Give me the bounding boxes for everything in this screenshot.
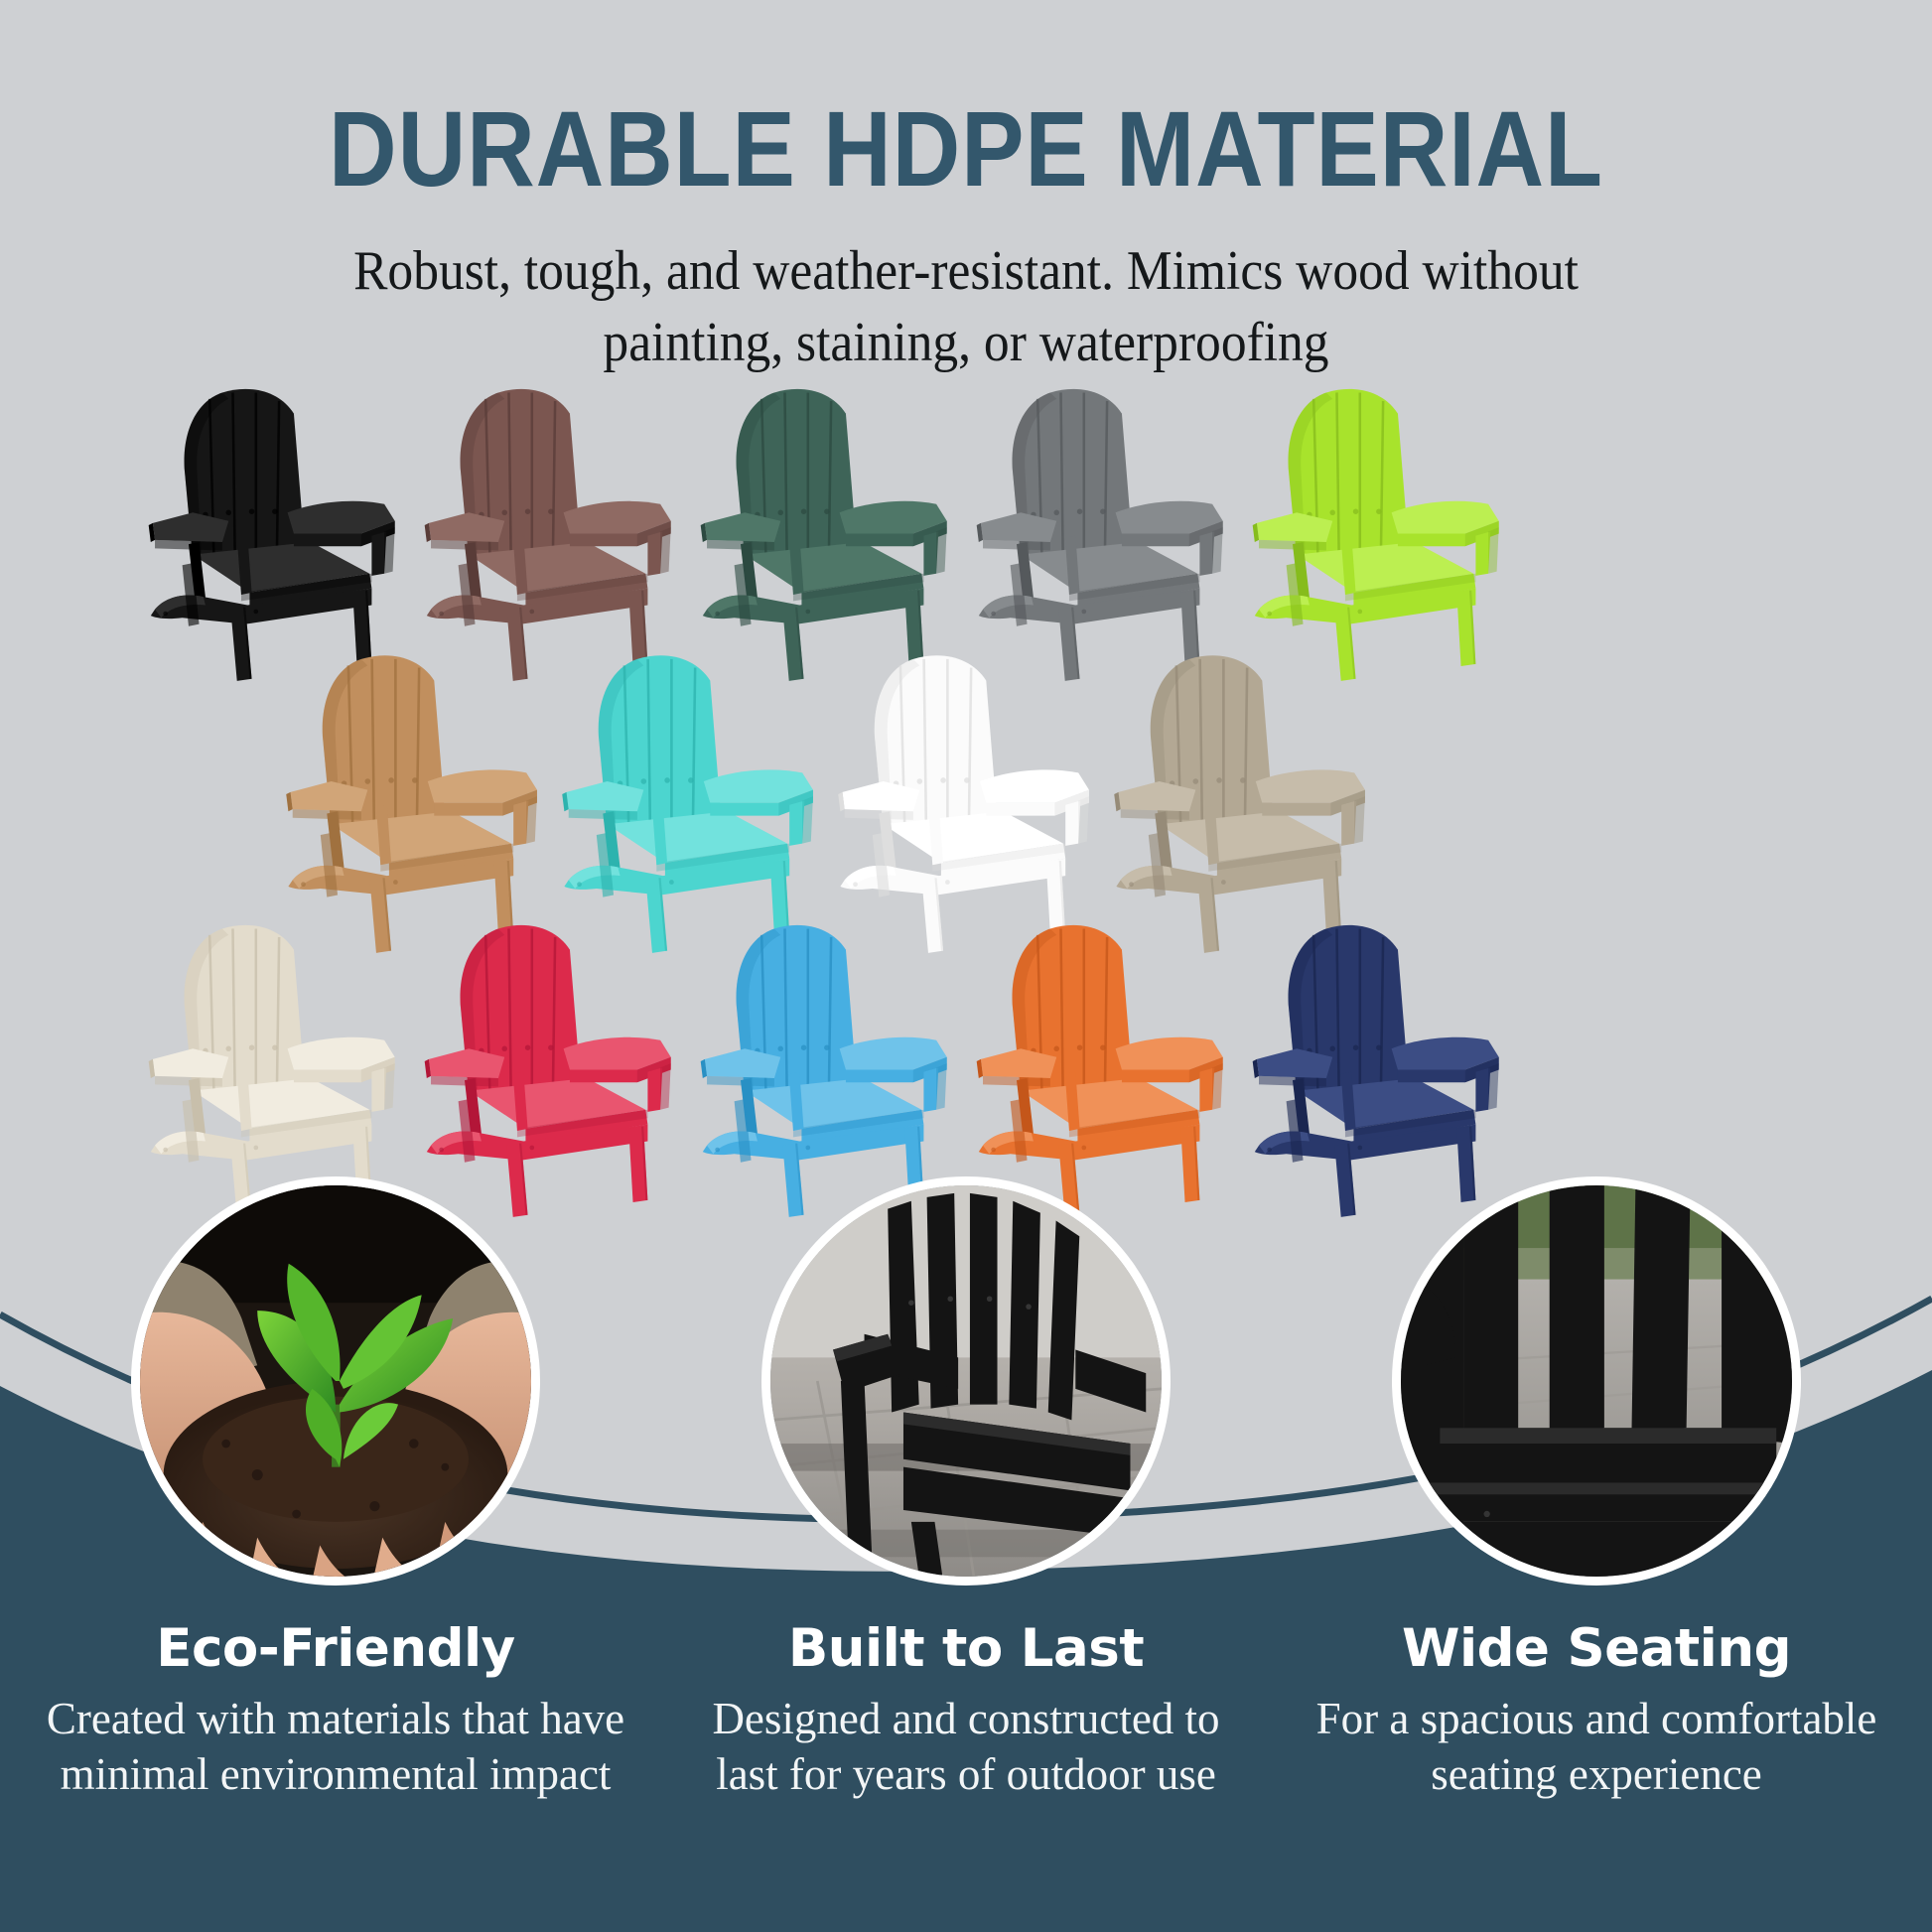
adirondack-chair-icon bbox=[1223, 903, 1539, 1219]
chair-graphic bbox=[395, 903, 711, 1219]
wide-seat-closeup-icon bbox=[1401, 1185, 1792, 1577]
chair-left-arm bbox=[425, 1048, 505, 1086]
subtitle-line-2: painting, staining, or waterproofing bbox=[77, 308, 1855, 379]
chair-grid-row-3 bbox=[0, 903, 1932, 1176]
feature-title-wide-seating: Wide Seating bbox=[1289, 1621, 1904, 1677]
features-section: Eco-Friendly Created with materials that… bbox=[0, 1176, 1932, 1932]
chair-grid-row-2 bbox=[0, 633, 1932, 901]
adirondack-chair-icon bbox=[671, 903, 987, 1219]
chair-swatch-orange[interactable] bbox=[947, 903, 1263, 1219]
chair-graphic bbox=[671, 903, 987, 1219]
feature-image-wide-seating bbox=[1392, 1176, 1801, 1586]
feature-desc-line-1: Designed and constructed to bbox=[658, 1691, 1274, 1747]
chair-left-arm bbox=[1253, 1048, 1333, 1086]
seedling-in-hands-icon bbox=[140, 1185, 531, 1577]
adirondack-chair-icon bbox=[947, 903, 1263, 1219]
chair-swatch-light-blue[interactable] bbox=[671, 903, 987, 1219]
feature-image-built-to-last bbox=[761, 1176, 1171, 1586]
feature-desc-line-2: last for years of outdoor use bbox=[658, 1746, 1274, 1803]
page-subtitle: Robust, tough, and weather-resistant. Mi… bbox=[77, 236, 1855, 378]
feature-image-eco-friendly bbox=[131, 1176, 540, 1586]
chair-left-arm bbox=[562, 781, 643, 820]
feature-title-eco-friendly: Eco-Friendly bbox=[28, 1621, 643, 1677]
chair-swatch-ivory[interactable] bbox=[119, 903, 435, 1219]
chair-left-arm bbox=[286, 781, 367, 820]
chair-left-arm bbox=[838, 781, 919, 820]
chair-left-arm bbox=[425, 512, 505, 550]
chair-swatch-navy-blue[interactable] bbox=[1223, 903, 1539, 1219]
feature-title-built-to-last: Built to Last bbox=[658, 1621, 1274, 1677]
subtitle-line-1: Robust, tough, and weather-resistant. Mi… bbox=[77, 236, 1855, 308]
adirondack-chair-icon bbox=[119, 903, 435, 1219]
feature-eco-friendly: Eco-Friendly Created with materials that… bbox=[28, 1176, 643, 1803]
chair-left-arm bbox=[977, 1048, 1057, 1086]
chair-graphic bbox=[947, 903, 1263, 1219]
feature-desc-eco-friendly: Created with materials that have minimal… bbox=[28, 1691, 643, 1803]
feature-desc-line-2: minimal environmental impact bbox=[28, 1746, 643, 1803]
feature-desc-line-1: For a spacious and comfortable bbox=[1289, 1691, 1904, 1747]
chair-left-arm bbox=[149, 1048, 229, 1086]
feature-desc-line-1: Created with materials that have bbox=[28, 1691, 643, 1747]
adirondack-chair-icon bbox=[395, 903, 711, 1219]
chair-left-arm bbox=[977, 512, 1057, 550]
feature-desc-built-to-last: Designed and constructed to last for yea… bbox=[658, 1691, 1274, 1803]
black-chair-on-patio-icon bbox=[770, 1185, 1162, 1577]
chair-left-arm bbox=[701, 512, 781, 550]
chair-left-arm bbox=[701, 1048, 781, 1086]
chair-swatch-red[interactable] bbox=[395, 903, 711, 1219]
page-title: DURABLE HDPE MATERIAL bbox=[116, 95, 1816, 203]
chair-left-arm bbox=[149, 512, 229, 550]
chair-grid-row-1 bbox=[0, 367, 1932, 640]
feature-built-to-last: Built to Last Designed and constructed t… bbox=[658, 1176, 1274, 1803]
feature-wide-seating: Wide Seating For a spacious and comforta… bbox=[1289, 1176, 1904, 1803]
chair-graphic bbox=[1223, 903, 1539, 1219]
chair-left-arm bbox=[1253, 512, 1333, 550]
feature-desc-wide-seating: For a spacious and comfortable seating e… bbox=[1289, 1691, 1904, 1803]
header: DURABLE HDPE MATERIAL Robust, tough, and… bbox=[0, 0, 1932, 378]
feature-desc-line-2: seating experience bbox=[1289, 1746, 1904, 1803]
chair-left-arm bbox=[1114, 781, 1195, 820]
chair-graphic bbox=[119, 903, 435, 1219]
infographic-page: DURABLE HDPE MATERIAL Robust, tough, and… bbox=[0, 0, 1932, 1932]
